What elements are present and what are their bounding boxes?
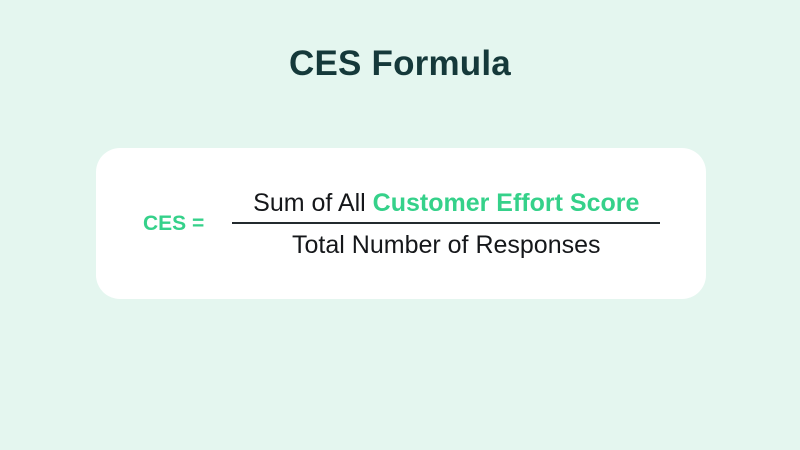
formula-numerator: Sum of All Customer Effort Score bbox=[253, 186, 639, 222]
formula-row: CES = Sum of All Customer Effort Score T… bbox=[96, 148, 706, 299]
page-title: CES Formula bbox=[0, 42, 800, 86]
formula-card: CES = Sum of All Customer Effort Score T… bbox=[96, 148, 706, 299]
numerator-emphasis-text: Customer Effort Score bbox=[373, 189, 640, 217]
formula-denominator: Total Number of Responses bbox=[292, 224, 600, 262]
formula-fraction: Sum of All Customer Effort Score Total N… bbox=[232, 186, 660, 262]
numerator-plain-text: Sum of All bbox=[253, 189, 373, 217]
slide-canvas: CES Formula CES = Sum of All Customer Ef… bbox=[0, 0, 800, 450]
formula-left-side: CES = bbox=[143, 213, 204, 234]
